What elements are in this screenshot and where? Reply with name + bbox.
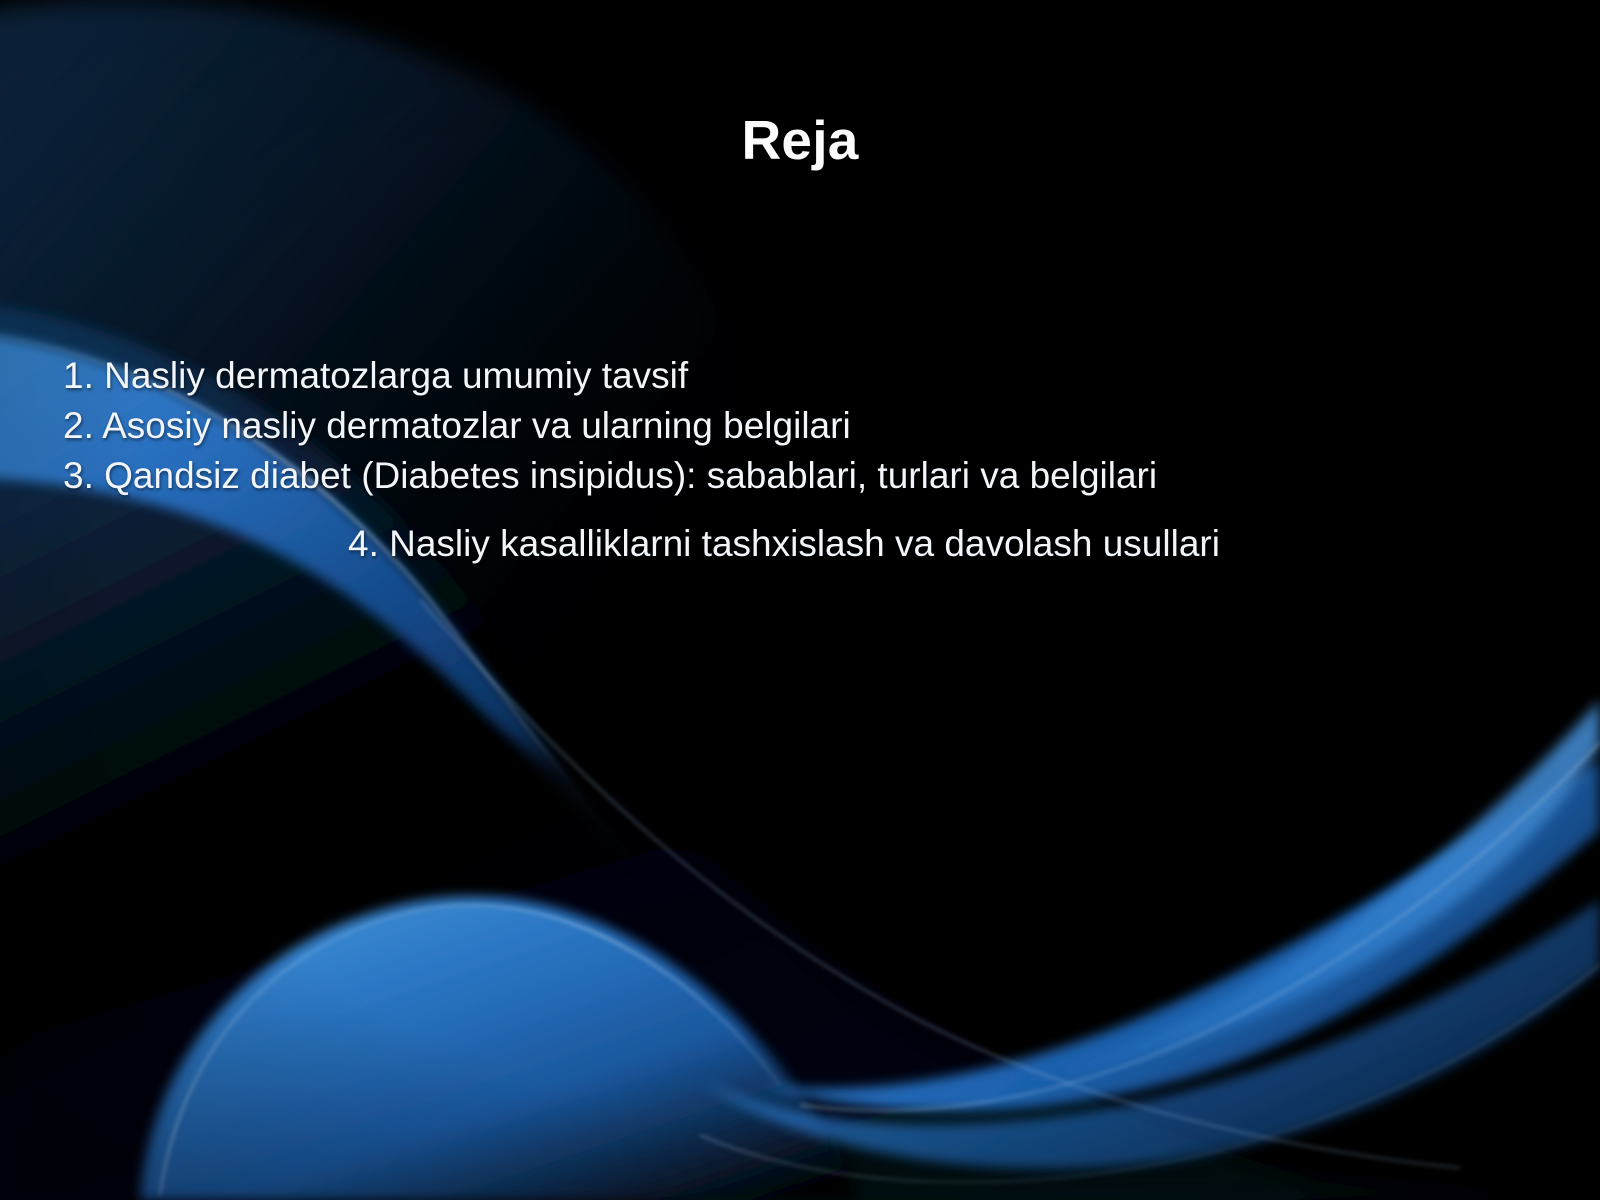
agenda-item-1: 1. Nasliy dermatozlarga umumiy tavsif — [63, 351, 1543, 401]
agenda-item-4: 4. Nasliy kasalliklarni tashxislash va d… — [63, 519, 1543, 569]
presentation-slide: Reja 1. Nasliy dermatozlarga umumiy tavs… — [0, 0, 1600, 1200]
agenda-item-2: 2. Asosiy nasliy dermatozlar va ularning… — [63, 401, 1543, 451]
slide-title: Reja — [0, 108, 1600, 172]
abstract-wave-background — [0, 0, 1600, 1200]
agenda-list: 1. Nasliy dermatozlarga umumiy tavsif 2.… — [63, 351, 1543, 569]
vignette-overlay — [0, 0, 1600, 1200]
agenda-item-3: 3. Qandsiz diabet (Diabetes insipidus): … — [63, 451, 1543, 501]
